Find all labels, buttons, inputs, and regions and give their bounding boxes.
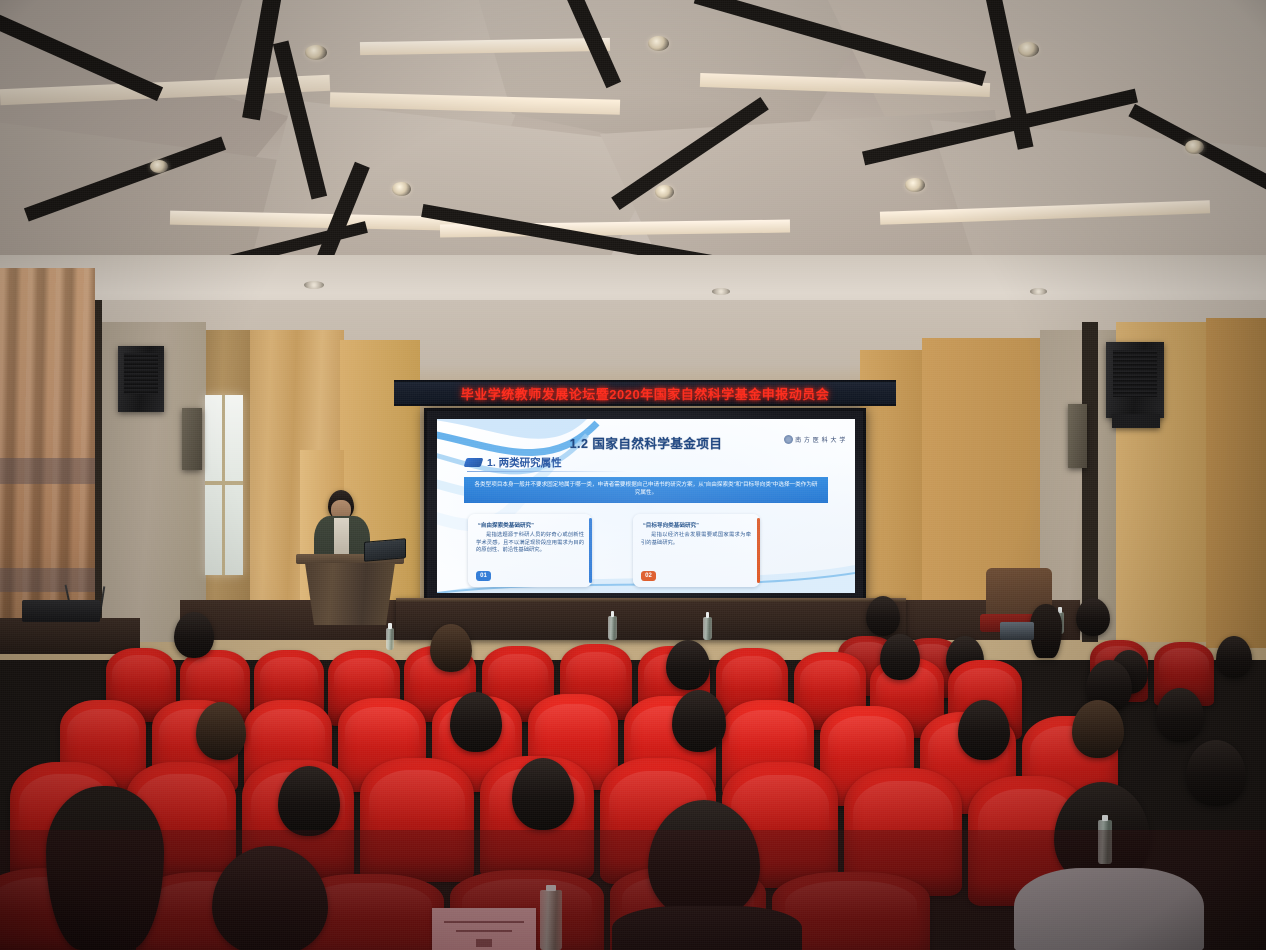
section-underline	[467, 471, 627, 472]
console-equipment	[22, 600, 100, 622]
wall-speaker-right-lower	[1068, 404, 1087, 468]
section-heading-text: 1. 两类研究属性	[487, 455, 562, 470]
wall-column-dark	[1082, 322, 1098, 642]
soffit-downlight-icon	[304, 281, 324, 289]
water-bottle	[608, 616, 617, 640]
presentation-slide: 1.2 国家自然科学基金项目 南 方 医 科 大 学 1. 两类研究属性 各类型…	[437, 419, 855, 593]
head-table	[396, 598, 906, 640]
water-bottle	[386, 628, 394, 650]
wall-speaker-left-lower	[182, 408, 202, 470]
attendee-head	[880, 634, 920, 680]
ceiling-spotlight-icon	[305, 45, 327, 60]
speaker-grille	[124, 353, 159, 394]
slide-card-01: “自由探索类基础研究” 是指选题源于科研人员的好奇心或创新性学术灵感，且不以满足…	[468, 514, 592, 587]
attendee-head	[1072, 700, 1124, 758]
card-accent-edge	[589, 518, 592, 582]
led-banner: 毕业学统教师发展论坛暨2020年国家自然科学基金申报动员会	[394, 380, 896, 406]
wall-speaker-right-mount	[1112, 414, 1160, 428]
card-badge-02: 02	[641, 571, 656, 581]
led-banner-text: 毕业学统教师发展论坛暨2020年国家自然科学基金申报动员会	[461, 384, 829, 403]
curtain-band	[0, 568, 95, 592]
water-bottle	[703, 617, 712, 640]
window-curtain	[0, 268, 95, 640]
attendee-head	[1186, 740, 1246, 806]
attendee-head	[1156, 688, 1204, 742]
wood-wall-panel	[1206, 318, 1266, 648]
card-body: 是指以经济社会发展需要或国家需求为牵引的基础研究。	[641, 532, 751, 547]
card-title: “目标导向类基础研究”	[643, 521, 699, 529]
university-logo-text: 南 方 医 科 大 学	[795, 435, 846, 444]
ceiling-spotlight-icon	[655, 185, 674, 199]
attendee-head	[1216, 636, 1252, 678]
attendee-head	[666, 640, 710, 690]
ceiling-spotlight-icon	[392, 182, 411, 196]
slide-highlight-band: 各类型项目本身一般并不要求固定地属于哪一类，申请者需要根据自己申请书的研究方案，…	[464, 477, 828, 503]
card-title: “自由探索类基础研究”	[478, 521, 534, 529]
attendee-head	[450, 692, 502, 752]
window-mullion	[222, 395, 225, 575]
ceiling-spotlight-icon	[1018, 42, 1039, 57]
attendee-head	[958, 700, 1010, 760]
ceiling-spotlight-icon	[648, 36, 669, 51]
lectern	[305, 563, 395, 625]
soffit-downlight-icon	[712, 288, 730, 295]
wall-speaker-right	[1106, 342, 1164, 418]
ceiling-spotlight-icon	[905, 178, 925, 192]
conference-hall-photo: 毕业学统教师发展论坛暨2020年国家自然科学基金申报动员会 1.2 国家自然科学…	[0, 0, 1266, 950]
table-rim	[396, 598, 906, 602]
curtain-band	[0, 458, 95, 484]
logo-mark-icon	[784, 435, 793, 444]
attendee-head	[866, 596, 900, 636]
attendee-head	[196, 702, 246, 760]
attendee-head	[512, 758, 574, 830]
hall-window	[205, 395, 243, 575]
card-body: 是指选题源于科研人员的好奇心或创新性学术灵感，且不以满足现阶段应用需求为目的的原…	[476, 532, 584, 555]
attendee-head	[174, 612, 214, 658]
ceiling-spotlight-icon	[150, 160, 168, 173]
university-logo: 南 方 医 科 大 学	[784, 435, 846, 444]
speaker-grille	[1113, 350, 1157, 397]
card-accent-edge	[757, 518, 760, 582]
side-console-table	[0, 618, 140, 654]
card-badge-01: 01	[476, 571, 491, 581]
slide-card-02: “目标导向类基础研究” 是指以经济社会发展需要或国家需求为牵引的基础研究。 02	[633, 514, 760, 587]
attendee-laptop	[1000, 622, 1034, 640]
attendee-head	[1030, 604, 1062, 658]
slide-section-heading: 1. 两类研究属性	[465, 455, 562, 470]
projection-screen: 1.2 国家自然科学基金项目 南 方 医 科 大 学 1. 两类研究属性 各类型…	[424, 408, 866, 604]
attendee-head	[672, 690, 726, 752]
attendee-head	[430, 624, 472, 672]
ceiling-spotlight-icon	[1185, 140, 1204, 154]
attendee-head	[1076, 598, 1110, 636]
attendee-head	[278, 766, 340, 836]
floor-shadow	[0, 830, 1266, 950]
presenter-shirt	[334, 518, 349, 556]
section-marker-icon	[464, 458, 484, 467]
presenter-laptop	[364, 538, 406, 562]
soffit-downlight-icon	[1030, 288, 1047, 295]
wall-speaker-left	[118, 346, 164, 412]
